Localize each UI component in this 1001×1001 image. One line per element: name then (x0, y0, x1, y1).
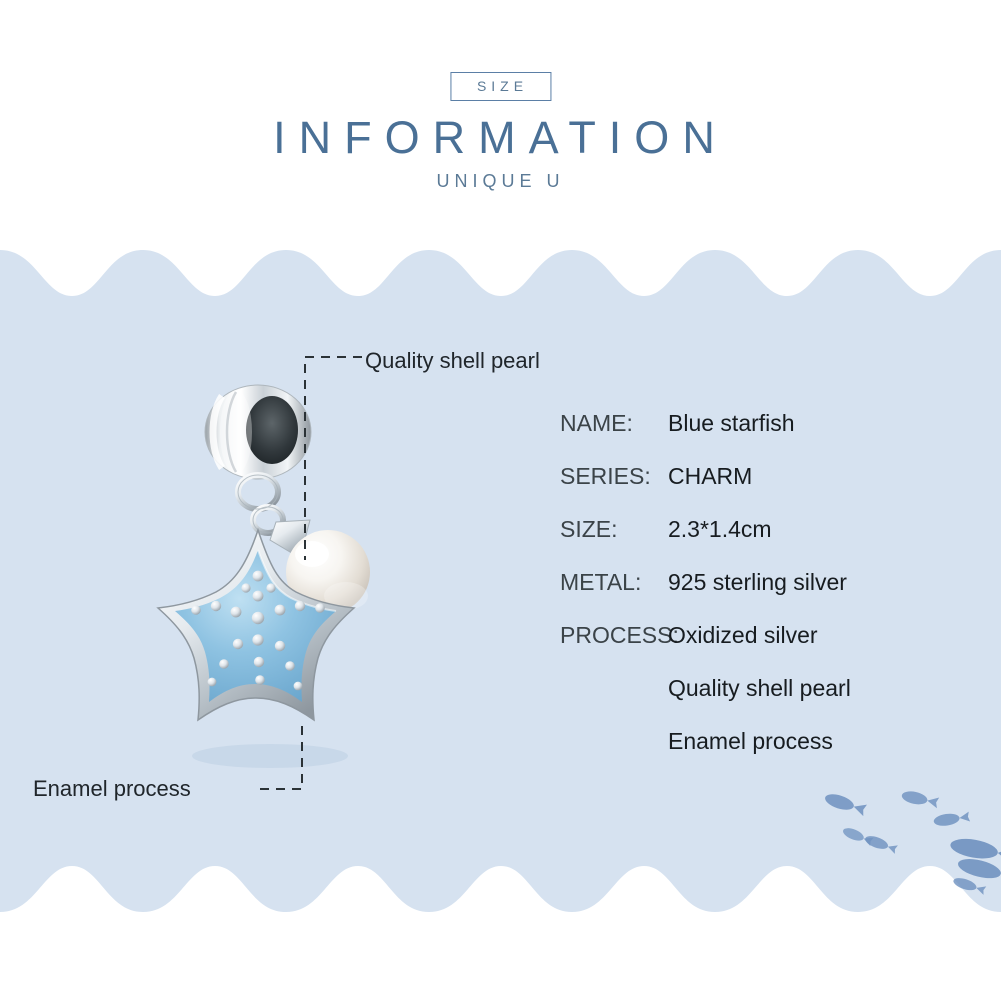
spec-value: 2.3*1.4cm (668, 518, 772, 541)
silver-bail (205, 385, 311, 479)
spec-value: 925 sterling silver (668, 571, 847, 594)
spec-label: METAL: (560, 571, 668, 594)
spec-value: Quality shell pearl (668, 677, 851, 700)
callout-label-quality-shell-pearl: Quality shell pearl (365, 350, 540, 372)
spec-row-process-3: Enamel process (560, 730, 980, 783)
spec-label: SERIES: (560, 465, 668, 488)
header: SIZE INFORMATION UNIQUE U (0, 0, 1001, 240)
spec-row-process-2: Quality shell pearl (560, 677, 980, 730)
product-charm-image (150, 370, 410, 790)
spec-row-process: PROCESS: Oxidized silver (560, 624, 980, 677)
page-title: INFORMATION (0, 115, 1001, 160)
spec-label: SIZE: (560, 518, 668, 541)
specification-list: NAME: Blue starfish SERIES: CHARM SIZE: … (560, 412, 980, 783)
spec-value: Enamel process (668, 730, 833, 753)
spec-value: Blue starfish (668, 412, 795, 435)
spec-value: CHARM (668, 465, 752, 488)
callout-label-enamel-process: Enamel process (33, 778, 191, 800)
spec-value: Oxidized silver (668, 624, 818, 647)
spec-label: NAME: (560, 412, 668, 435)
spec-row-name: NAME: Blue starfish (560, 412, 980, 465)
spec-label: PROCESS: (560, 624, 668, 647)
spec-row-series: SERIES: CHARM (560, 465, 980, 518)
page-subtitle: UNIQUE U (0, 172, 1001, 190)
spec-row-metal: METAL: 925 sterling silver (560, 571, 980, 624)
spec-row-size: SIZE: 2.3*1.4cm (560, 518, 980, 571)
size-badge: SIZE (450, 72, 551, 101)
